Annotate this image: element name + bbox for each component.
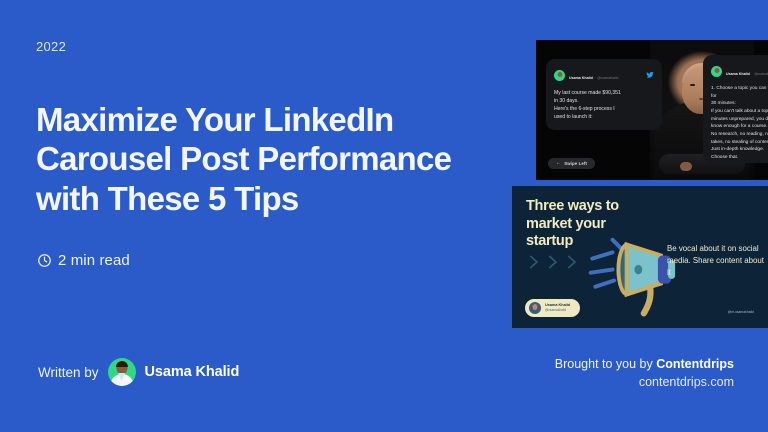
brand-prefix: Brought to you by	[555, 357, 656, 371]
avatar-hair	[116, 361, 128, 367]
twitter-bird-icon	[646, 66, 654, 84]
brand-line-1: Brought to you by Contentdrips	[555, 357, 734, 371]
swipe-left-label: Swipe Left	[564, 161, 587, 166]
byline-prefix: Written by	[38, 365, 99, 380]
tweet-card-left[interactable]: Usama Khalid @usamakhalid My last course…	[546, 59, 662, 130]
brand-website: contentdrips.com	[555, 375, 734, 389]
tweet-text: My last course made $90,351 in 30 days. …	[554, 89, 654, 121]
clock-icon	[37, 253, 52, 268]
slide-body-text: Be vocal about it on social media. Share…	[667, 243, 765, 279]
tweet-card-right[interactable]: Usama Khalid @usamakhalid 1. Choose a to…	[703, 55, 768, 163]
slide-author-identity: Usama Khalid @usamakhalid	[545, 303, 570, 312]
year-label: 2022	[36, 39, 66, 54]
author-name: Usama Khalid	[145, 364, 240, 380]
chevrons-right-icon	[525, 252, 581, 272]
brand-credit: Brought to you by Contentdrips contentdr…	[555, 357, 734, 389]
byline: Written by Usama Khalid	[38, 358, 239, 386]
tweet-identity: Usama Khalid @usamakhalid	[569, 66, 642, 84]
read-time-label: 2 min read	[58, 252, 130, 269]
tweet-avatar	[554, 70, 565, 81]
slide-author-handle: @usamakhalid	[545, 308, 570, 312]
post-canvas: 2022 Maximize Your LinkedIn Carousel Pos…	[0, 0, 768, 432]
presenter-hand	[680, 162, 692, 171]
swipe-left-button[interactable]: ← Swipe Left	[548, 158, 595, 169]
tweet-header: Usama Khalid @usamakhalid	[554, 66, 654, 84]
slide-author-pill[interactable]: Usama Khalid @usamakhalid	[525, 299, 580, 317]
avatar	[108, 358, 136, 386]
tweet-avatar	[711, 66, 722, 77]
tweet-author-handle: @usamakhalid	[597, 76, 618, 80]
slide-author-avatar	[529, 302, 541, 314]
tweet-author-handle: @usamakhalid	[754, 72, 768, 76]
tweet-header: Usama Khalid @usamakhalid	[711, 62, 768, 80]
tweet-author-name: Usama Khalid	[569, 76, 593, 80]
headline-line-2: Carousel Post Performance	[36, 139, 506, 178]
tweet-identity: Usama Khalid @usamakhalid	[726, 62, 768, 80]
slide-watermark: @m.usamakhalid	[728, 310, 754, 314]
preview-card-top[interactable]: Usama Khalid @usamakhalid My last course…	[536, 40, 768, 180]
headline-line-1: Maximize Your LinkedIn	[36, 100, 506, 139]
tweet-text: 1. Choose a topic you can talk about for…	[711, 85, 768, 162]
read-time: 2 min read	[37, 252, 130, 269]
brand-name: Contentdrips	[656, 357, 734, 371]
preview-card-bottom[interactable]: Three ways to market your startup Be voc…	[512, 186, 768, 328]
presenter-eye-left	[690, 84, 695, 86]
tweet-author-name: Usama Khalid	[726, 72, 750, 76]
arrow-left-icon: ←	[556, 161, 561, 166]
page-title: Maximize Your LinkedIn Carousel Post Per…	[36, 100, 506, 218]
headline-line-3: with These 5 Tips	[36, 179, 506, 218]
